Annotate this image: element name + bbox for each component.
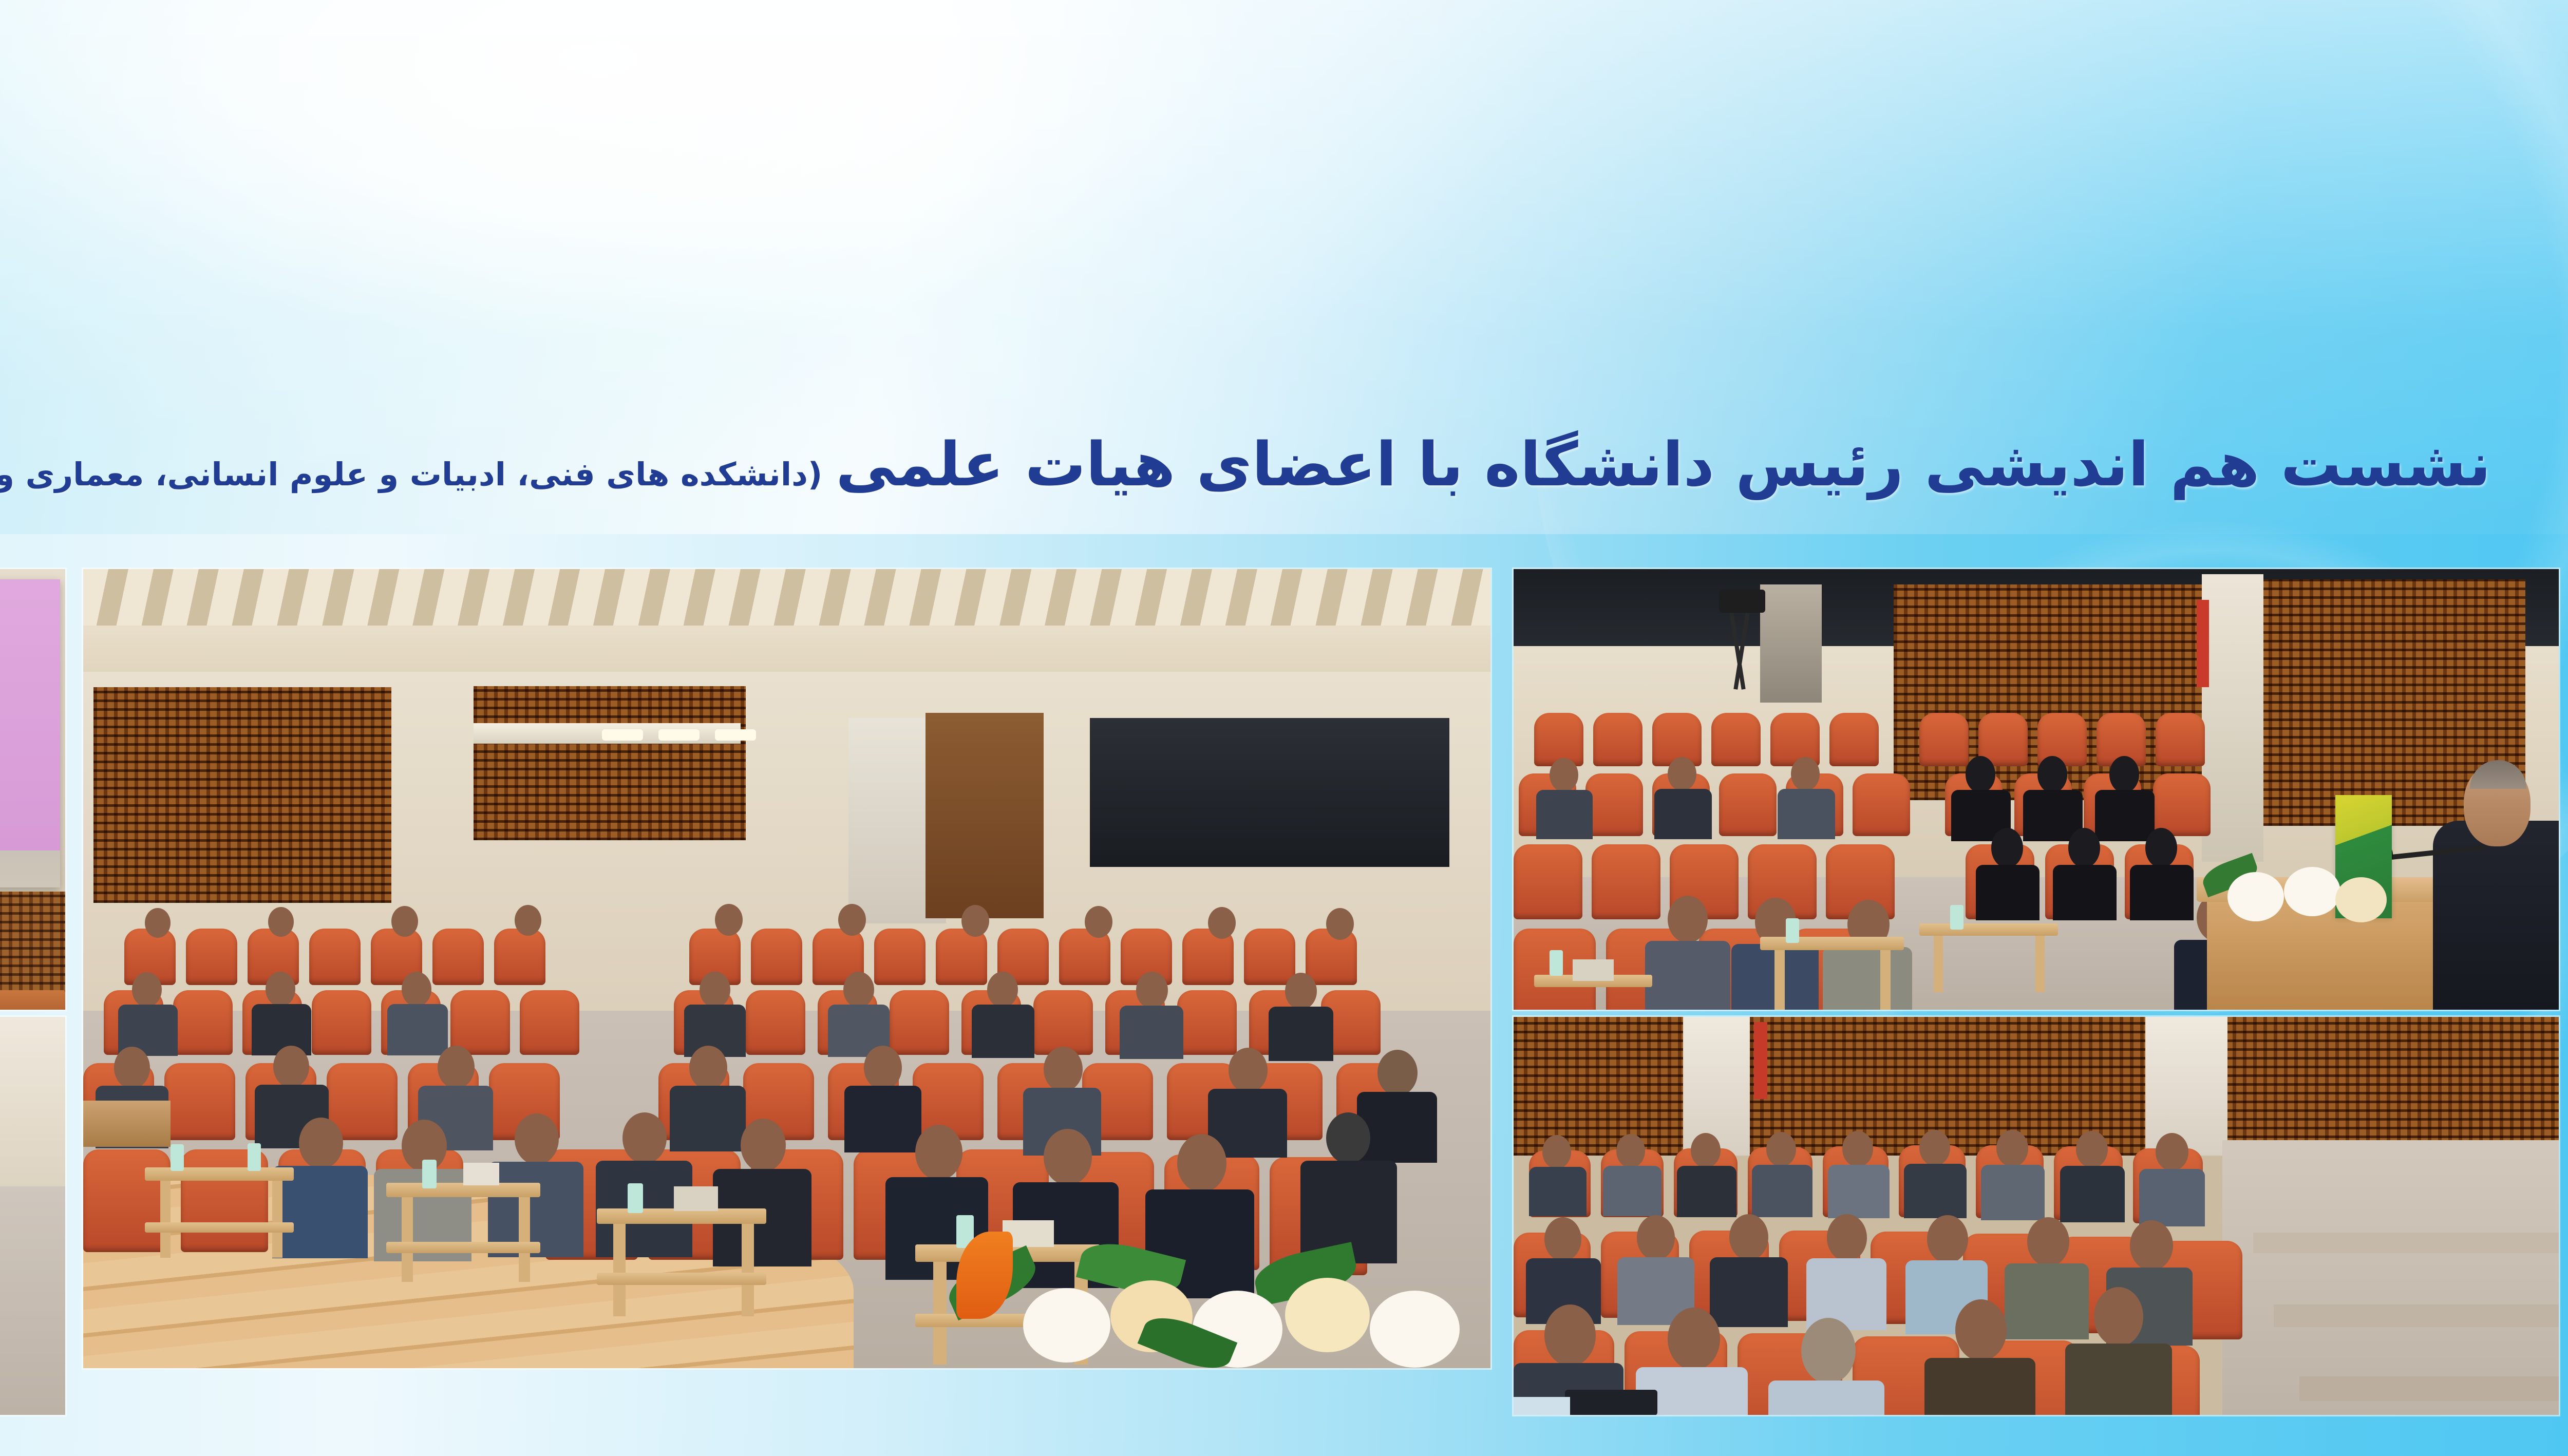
photo-speaker-and-audience (1514, 569, 2559, 1010)
photo-speaker-podium (0, 569, 65, 1010)
photo-auditorium-wide (83, 569, 1490, 1368)
news-banner: دانشگاه گیلان روابط عمومی دانشگاه گیلان … (0, 0, 2568, 1456)
photo-audience-right (1514, 1017, 2559, 1415)
photo-collage (0, 0, 2568, 1456)
photo-audience-left (0, 1017, 65, 1415)
